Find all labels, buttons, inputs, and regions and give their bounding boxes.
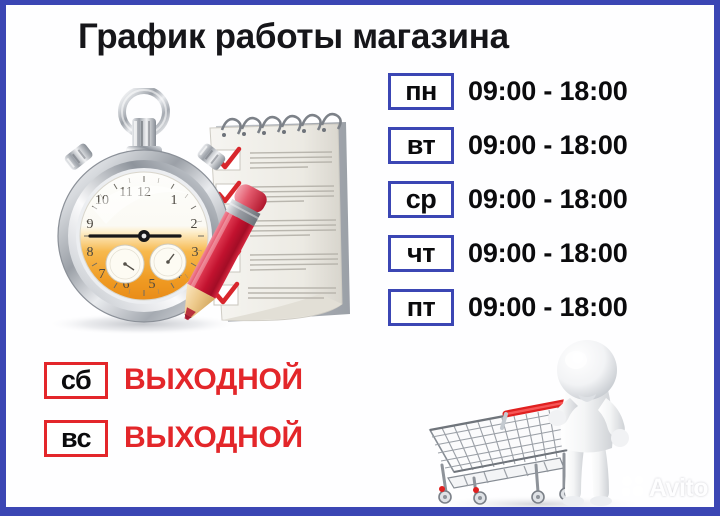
svg-text:5: 5 <box>149 277 156 292</box>
day-label: вт <box>407 132 435 159</box>
day-badge-wed: ср <box>388 181 454 218</box>
day-badge-sun: вс <box>44 420 108 457</box>
schedule-row: пн 09:00 - 18:00 <box>388 72 628 110</box>
weekend-row: вс ВЫХОДНОЙ <box>44 419 303 457</box>
svg-text:9: 9 <box>87 217 94 232</box>
day-label: сб <box>61 367 91 394</box>
weekend-row: сб ВЫХОДНОЙ <box>44 361 303 399</box>
day-label: пн <box>405 78 437 105</box>
frame-border-left <box>0 0 6 516</box>
day-badge-fri: пт <box>388 289 454 326</box>
hours-label: 09:00 - 18:00 <box>468 76 628 107</box>
avito-logo-icon <box>620 474 646 503</box>
status-label: ВЫХОДНОЙ <box>124 363 303 397</box>
hours-label: 09:00 - 18:00 <box>468 184 628 215</box>
weekday-schedule-list: пн 09:00 - 18:00 вт 09:00 - 18:00 ср 09:… <box>388 72 628 342</box>
schedule-row: вт 09:00 - 18:00 <box>388 126 628 164</box>
page-title: График работы магазина <box>78 17 509 57</box>
frame-border-right <box>714 0 720 516</box>
hours-label: 09:00 - 18:00 <box>468 130 628 161</box>
day-badge-thu: чт <box>388 235 454 272</box>
red-pencil-illustration <box>168 180 283 330</box>
avito-wordmark: Avito <box>649 476 708 501</box>
store-schedule-poster: График работы магазина <box>0 0 720 516</box>
frame-border-top <box>0 0 720 5</box>
day-badge-mon: пн <box>388 73 454 110</box>
status-label: ВЫХОДНОЙ <box>124 421 303 455</box>
hours-label: 09:00 - 18:00 <box>468 238 628 269</box>
day-badge-sat: сб <box>44 362 108 399</box>
day-badge-tue: вт <box>388 127 454 164</box>
day-label: вс <box>61 425 91 452</box>
svg-text:7: 7 <box>99 267 106 282</box>
schedule-row: ср 09:00 - 18:00 <box>388 180 628 218</box>
day-label: чт <box>407 240 435 267</box>
hours-label: 09:00 - 18:00 <box>468 292 628 323</box>
avito-watermark: Avito <box>620 474 708 503</box>
day-label: пт <box>407 294 436 321</box>
svg-text:8: 8 <box>87 245 94 260</box>
schedule-row: чт 09:00 - 18:00 <box>388 234 628 272</box>
weekend-schedule-list: сб ВЫХОДНОЙ вс ВЫХОДНОЙ <box>44 361 303 477</box>
frame-border-bottom <box>0 507 720 516</box>
day-label: ср <box>406 186 437 213</box>
schedule-row: пт 09:00 - 18:00 <box>388 288 628 326</box>
